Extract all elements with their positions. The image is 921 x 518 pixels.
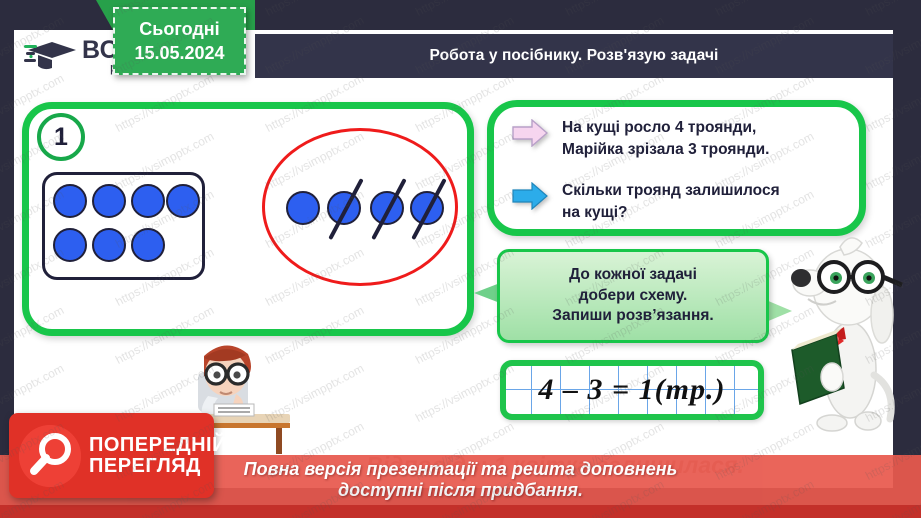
problem-text-1: На кущі росло 4 троянди, Марійка зрізала… xyxy=(562,117,769,162)
task-number: 1 xyxy=(54,123,68,152)
slide-root: ВСІМ pptx Робота у посібнику. Розв'язую … xyxy=(0,0,921,518)
watermark-text: https://vsimpptx.com xyxy=(713,0,816,19)
equation-box: 4 – 3 = 1(тр.) xyxy=(500,360,764,420)
banner-line-1: Повна версія презентації та решта доповн… xyxy=(244,459,678,480)
date-label: Сьогодні xyxy=(139,17,219,41)
graduation-cap-icon xyxy=(24,38,78,74)
dot xyxy=(53,228,87,262)
blue-arrow-icon xyxy=(512,182,548,210)
dog-teacher-illustration xyxy=(790,225,910,445)
watermark-text: https://vsimpptx.com xyxy=(0,0,66,19)
crossed-group-oval xyxy=(262,128,458,286)
preview-line-2: ПЕРЕГЛЯД xyxy=(89,456,227,476)
watermark-text: https://vsimpptx.com xyxy=(563,0,666,19)
page-title: Робота у посібнику. Розв'язую задачі xyxy=(430,47,719,65)
task-number-badge: 1 xyxy=(37,113,85,161)
dot xyxy=(131,184,165,218)
slide-title-bar: Робота у посібнику. Розв'язую задачі xyxy=(255,34,893,78)
bubble-line-1: До кожної задачі xyxy=(569,265,697,285)
watermark-text: https://vsimpptx.com xyxy=(263,0,366,19)
magnifier-icon xyxy=(19,425,81,487)
dot-group-box xyxy=(42,172,205,280)
date-value: 15.05.2024 xyxy=(134,41,224,65)
dot xyxy=(131,228,165,262)
dot xyxy=(92,184,126,218)
dot xyxy=(166,184,200,218)
bubble-line-2: добери схему. xyxy=(579,286,688,306)
problem-question-row: Скільки троянд залишилося на кущі? xyxy=(512,180,780,225)
equation-text: 4 – 3 = 1(тр.) xyxy=(506,366,758,414)
dot xyxy=(286,191,320,225)
banner-line-2: доступні після придбання. xyxy=(338,480,583,501)
preview-badge[interactable]: ПОПЕРЕДНІЙ ПЕРЕГЛЯД xyxy=(9,413,214,498)
instruction-bubble: До кожної задачі добери схему. Запиши ро… xyxy=(497,249,769,343)
date-badge: Сьогодні 15.05.2024 xyxy=(113,7,246,75)
bubble-tail-right xyxy=(766,300,792,322)
pink-arrow-icon xyxy=(512,119,548,147)
preview-badge-text: ПОПЕРЕДНІЙ ПЕРЕГЛЯД xyxy=(89,435,227,476)
watermark-text: https://vsimpptx.com xyxy=(863,0,921,19)
preview-line-1: ПОПЕРЕДНІЙ xyxy=(89,435,227,455)
dot xyxy=(92,228,126,262)
banner-footer-strip xyxy=(0,505,921,518)
problem-statement-row: На кущі росло 4 троянди, Марійка зрізала… xyxy=(512,117,769,162)
bubble-line-3: Запиши розв’язання. xyxy=(552,306,714,326)
watermark-text: https://vsimpptx.com xyxy=(413,0,516,19)
dot xyxy=(53,184,87,218)
problem-text-2: Скільки троянд залишилося на кущі? xyxy=(562,180,780,225)
